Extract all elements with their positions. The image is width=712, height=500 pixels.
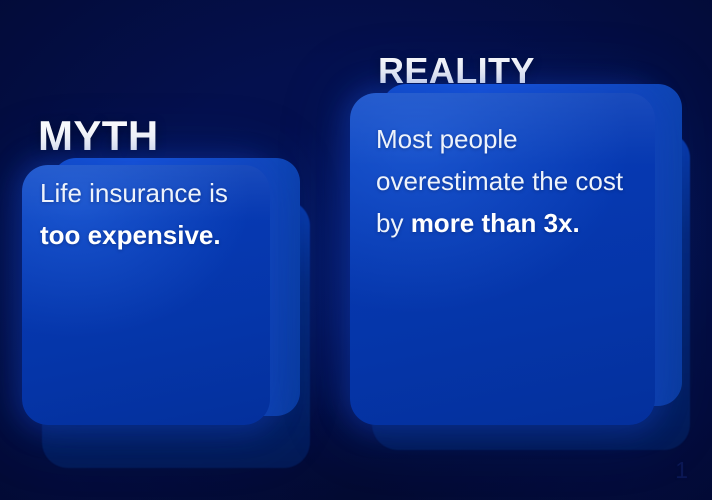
- reality-body-text: Most people overestimate the cost by mor…: [376, 118, 634, 244]
- reality-body-bold: more than 3x.: [411, 208, 580, 238]
- page-number: 1: [675, 457, 688, 484]
- myth-body-text: Life insurance is too expensive.: [40, 172, 255, 256]
- myth-body-bold: too expensive.: [40, 220, 221, 250]
- slide-canvas: MYTH Life insurance is too expensive. RE…: [0, 0, 712, 500]
- myth-body-regular: Life insurance is: [40, 178, 228, 208]
